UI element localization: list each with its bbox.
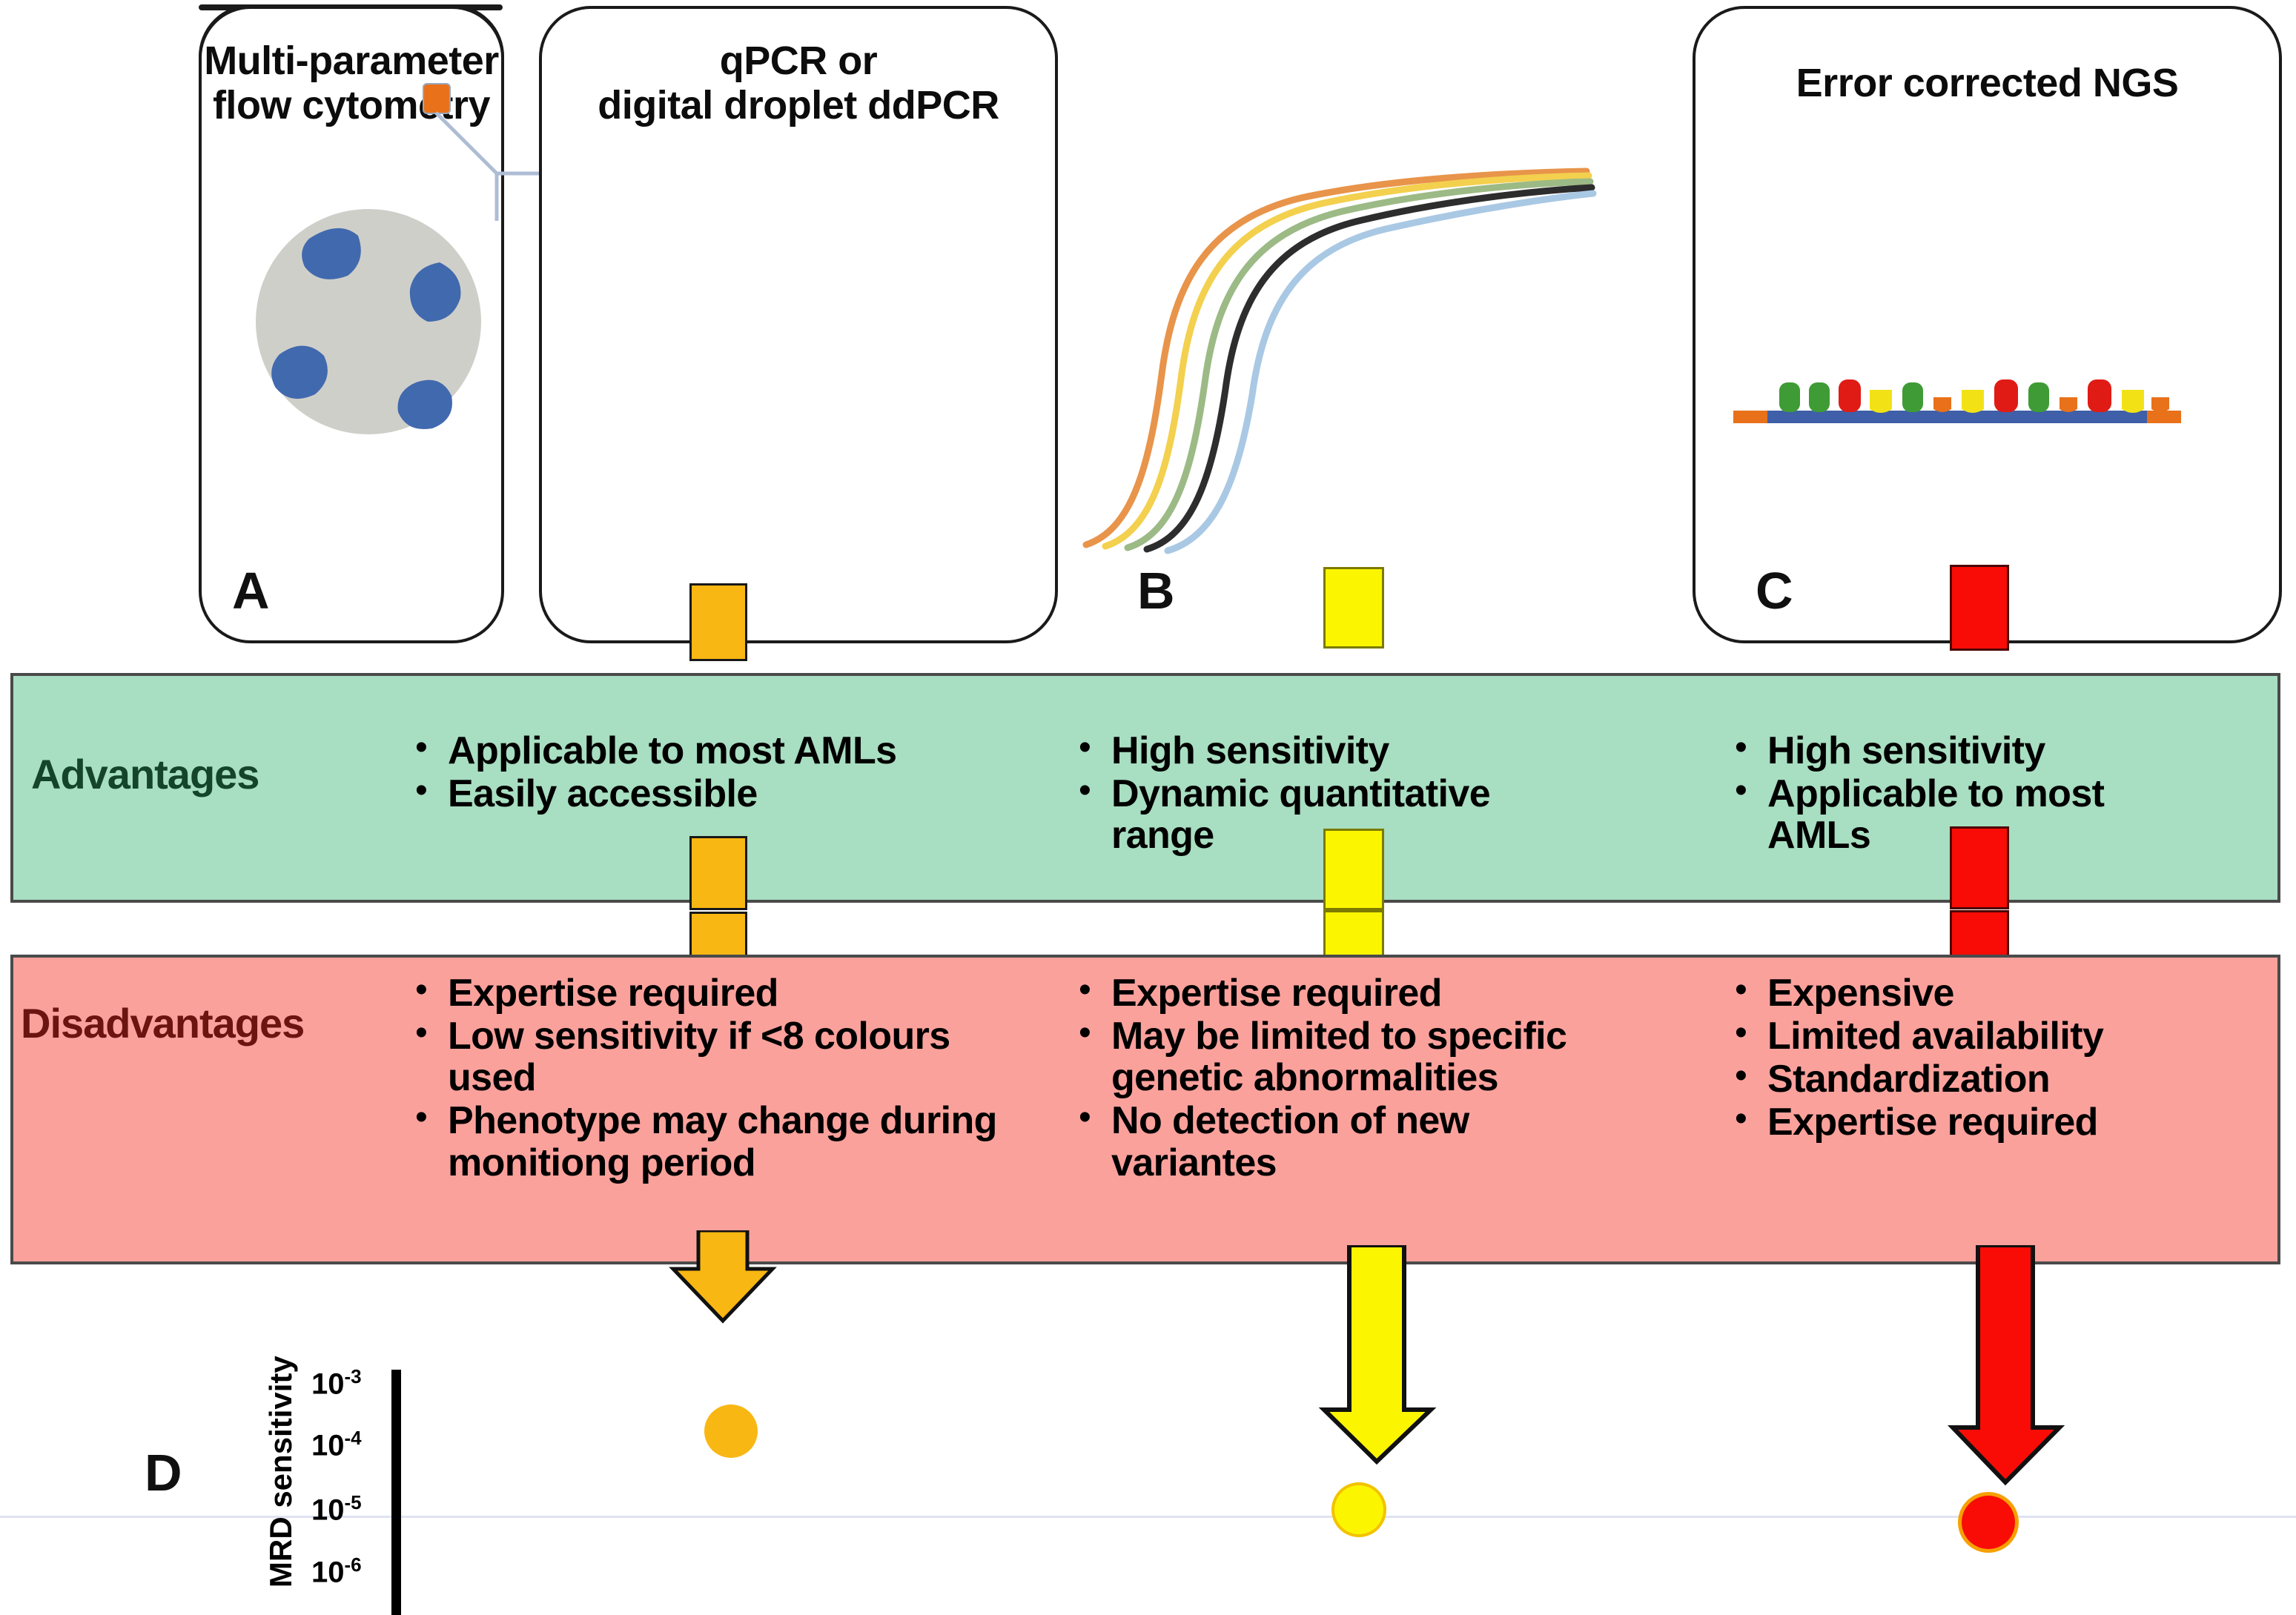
bullet-icon: • <box>1735 1015 1767 1052</box>
panel-a-letter: A <box>232 561 270 620</box>
dna-sequence-icon <box>1727 369 2187 458</box>
bullet-icon: • <box>1735 1058 1767 1095</box>
data-point-pcr-dot <box>1331 1482 1386 1537</box>
list-item: •Applicable to most AMLs <box>415 730 964 772</box>
connector-a-gap <box>689 912 747 958</box>
y-tick-1: 10-3 <box>311 1365 362 1401</box>
y-axis-line <box>391 1370 401 1615</box>
bullet-icon: • <box>1079 773 1111 809</box>
mrd-sensitivity-chart: D MRD sensitivity 10-3 10-4 10-5 10-6 10… <box>0 1260 2296 1615</box>
advantages-label: Advantages <box>31 750 259 798</box>
list-item: •Phenotype may change during monitiong p… <box>415 1100 1001 1183</box>
list-item: •May be limited to specific genetic abno… <box>1079 1015 1627 1098</box>
connector-c-mid <box>1950 826 2009 909</box>
bullet-icon: • <box>1079 972 1111 1009</box>
disadvantages-label: Disadvantages <box>21 999 304 1047</box>
bullet-icon: • <box>1079 1100 1111 1136</box>
list-item: •High sensitivity <box>1079 730 1590 772</box>
bullet-icon: • <box>415 1100 448 1136</box>
cell-surface-marker-icon <box>241 194 493 446</box>
list-item: •Expertise required <box>1735 1101 2254 1143</box>
connector-a-mid <box>689 836 747 910</box>
panel-b-title: qPCR or digital droplet ddPCR <box>539 39 1058 128</box>
list-item: •Easily accessible <box>415 773 964 815</box>
bullet-icon: • <box>415 972 448 1009</box>
bullet-icon: • <box>415 1015 448 1052</box>
bullet-icon: • <box>1735 972 1767 1009</box>
connector-b-mid <box>1323 829 1384 910</box>
bullet-icon: • <box>415 773 448 809</box>
connector-c-top <box>1950 565 2009 651</box>
disadvantages-column-a: •Expertise required •Low sensitivity if … <box>415 972 1001 1185</box>
bullet-icon: • <box>1079 730 1111 766</box>
bullet-icon: • <box>1735 730 1767 766</box>
bullet-icon: • <box>415 730 448 766</box>
y-axis-label: MRD sensitivity <box>263 1356 299 1588</box>
list-item: •Expensive <box>1735 972 2254 1014</box>
connector-b-top <box>1323 567 1384 649</box>
data-point-ngs <box>1962 1496 2015 1549</box>
bullet-icon: • <box>1735 773 1767 809</box>
connector-b-gap <box>1323 910 1384 958</box>
panel-b-letter: B <box>1137 561 1175 620</box>
list-item: •Limited availability <box>1735 1015 2254 1057</box>
connector-c-gap <box>1950 910 2009 958</box>
list-item: •Expertise required <box>1079 972 1627 1014</box>
figure-root: Multi-parameter flow cytometry A qPCR or… <box>0 0 2296 1615</box>
panel-d-letter: D <box>145 1443 182 1502</box>
amplification-curves-icon <box>1079 152 1598 574</box>
y-tick-3: 10-5 <box>311 1491 362 1527</box>
list-item: •Standardization <box>1735 1058 2254 1100</box>
panel-c-title: Error corrected NGS <box>1693 61 2282 105</box>
connector-a-top <box>689 583 747 661</box>
advantages-column-a: •Applicable to most AMLs •Easily accessi… <box>415 730 964 816</box>
disadvantages-column-c: •Expensive •Limited availability •Standa… <box>1735 972 2254 1145</box>
list-item: •Low sensitivity if <8 colours used <box>415 1015 1001 1098</box>
bullet-icon: • <box>1079 1015 1111 1052</box>
y-tick-4: 10-6 <box>311 1553 362 1589</box>
panel-c-letter: C <box>1756 561 1793 620</box>
list-item: •Expertise required <box>415 972 1001 1014</box>
y-tick-2: 10-4 <box>311 1427 362 1462</box>
list-item: •No detection of new variantes <box>1079 1100 1627 1183</box>
disadvantages-column-b: •Expertise required •May be limited to s… <box>1079 972 1627 1185</box>
bullet-icon: • <box>1735 1101 1767 1138</box>
data-point-flow-cytometry <box>704 1405 758 1458</box>
list-item: •High sensitivity <box>1735 730 2209 772</box>
